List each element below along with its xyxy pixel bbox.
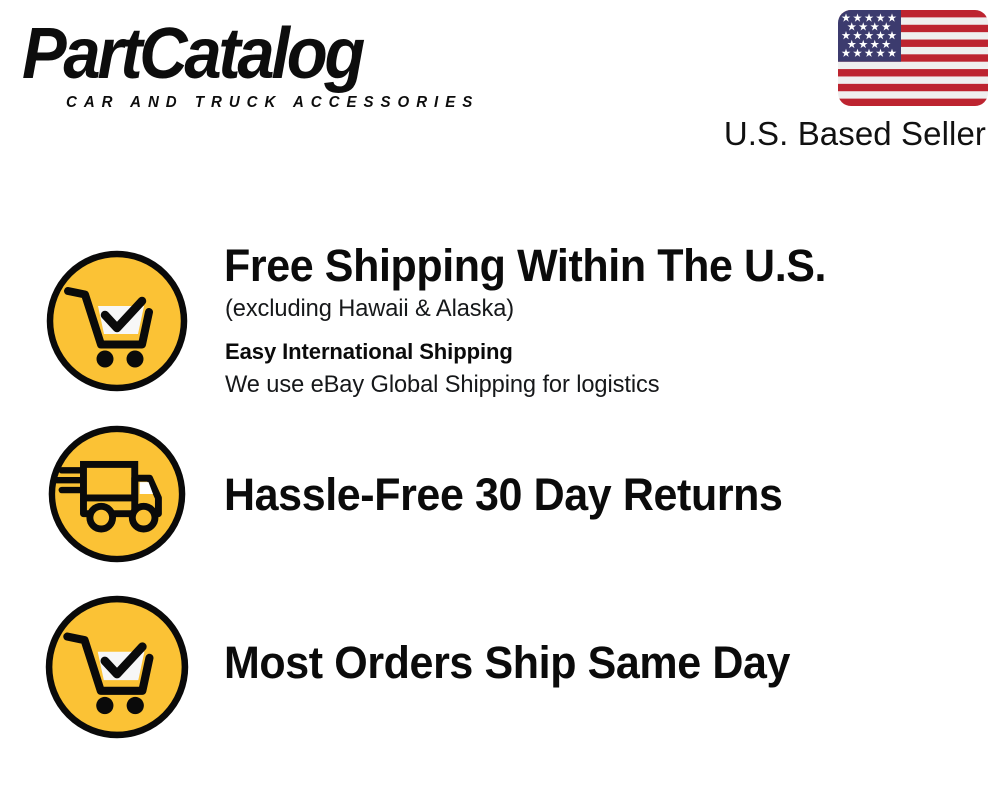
promo-banner: PartCatalog CAR AND TRUCK ACCESSORIES	[0, 0, 1000, 800]
feature-headline: Most Orders Ship Same Day	[224, 639, 790, 687]
feature-headline: Hassle-Free 30 Day Returns	[224, 471, 783, 519]
feature-subdetail: We use eBay Global Shipping for logistic…	[225, 370, 659, 401]
shopping-cart-check-icon	[45, 249, 189, 393]
feature-list: Free Shipping Within The U.S. (excluding…	[0, 0, 1000, 800]
feature-row: Hassle-Free 30 Day Returns	[0, 423, 1000, 573]
feature-subheading: Easy International Shipping	[225, 337, 513, 366]
feature-row: Most Orders Ship Same Day	[0, 594, 1000, 744]
feature-headline: Free Shipping Within The U.S.	[224, 242, 826, 290]
shopping-cart-check-icon	[44, 594, 190, 740]
delivery-truck-icon	[46, 423, 188, 565]
feature-subnote: (excluding Hawaii & Alaska)	[225, 294, 514, 325]
feature-row: Free Shipping Within The U.S. (excluding…	[0, 249, 1000, 409]
